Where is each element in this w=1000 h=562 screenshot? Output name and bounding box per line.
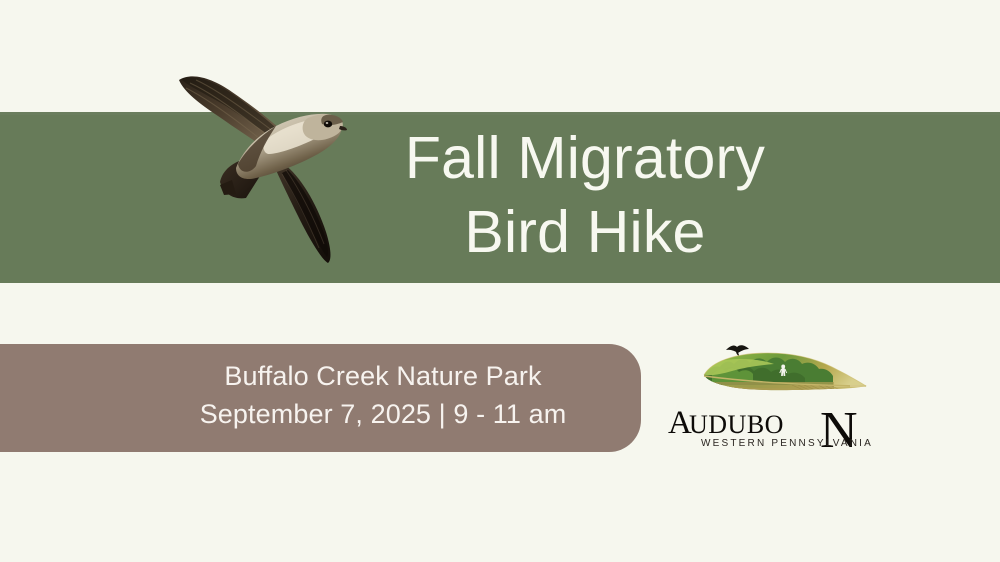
details-date-time: September 7, 2025 | 9 - 11 am xyxy=(0,395,766,433)
feather-landscape-icon xyxy=(682,341,868,407)
title-line-2: Bird Hike xyxy=(355,195,815,269)
poster-canvas: Fall Migratory Bird Hike Buffalo Creek N… xyxy=(0,0,1000,562)
chimney-swift-photo xyxy=(176,64,348,264)
details-text: Buffalo Creek Nature Park September 7, 2… xyxy=(0,357,766,433)
details-location: Buffalo Creek Nature Park xyxy=(0,357,766,395)
title-line-1: Fall Migratory xyxy=(355,121,815,195)
poster-title: Fall Migratory Bird Hike xyxy=(355,121,815,269)
audubon-wordmark: A UDUBO N WESTERN PENNSYLVANIA xyxy=(668,401,876,455)
svg-text:UDUBO: UDUBO xyxy=(689,410,784,439)
audubon-logo: A UDUBO N WESTERN PENNSYLVANIA xyxy=(668,341,876,455)
svg-text:WESTERN PENNSYLVANIA: WESTERN PENNSYLVANIA xyxy=(701,438,873,449)
